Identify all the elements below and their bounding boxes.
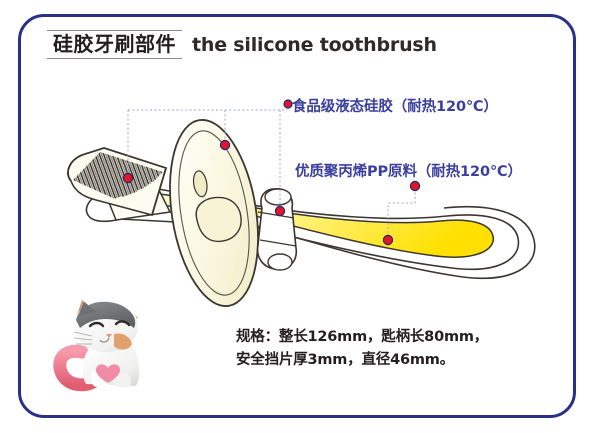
title-english: the silicone toothbrush (192, 34, 437, 56)
spec-line-1: 规格：整长126mm，匙柄长80mm， (236, 326, 488, 349)
page-title: 硅胶牙刷部件 the silicone toothbrush (47, 30, 437, 59)
spec-text: 规格：整长126mm，匙柄长80mm， 安全挡片厚3mm，直径46mm。 (236, 326, 488, 373)
title-cn-rule-box: 硅胶牙刷部件 (47, 30, 182, 59)
spec-line-2: 安全挡片厚3mm，直径46mm。 (236, 349, 488, 372)
product-info-card: 硅胶牙刷部件 the silicone toothbrush (0, 0, 600, 433)
callout-label-silicone: 食品级液态硅胶（耐热120℃） (292, 95, 498, 116)
title-chinese: 硅胶牙刷部件 (53, 33, 176, 55)
cat-head (74, 300, 138, 352)
cat-figurine (52, 296, 162, 394)
callout-label-pp: 优质聚丙烯PP原料（耐热120℃） (295, 160, 522, 181)
